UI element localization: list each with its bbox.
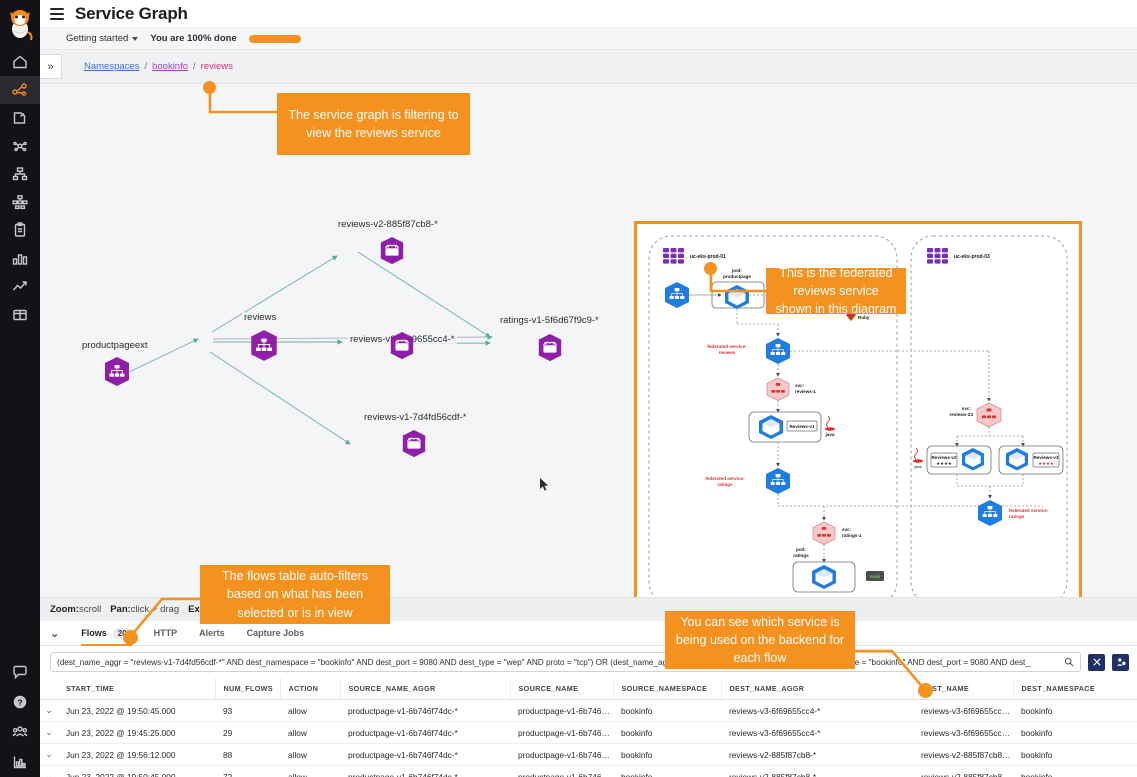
- cell-source-name-aggr: productpage-v1-6b746f74dc-*: [340, 722, 510, 744]
- getting-started-dropdown[interactable]: Getting started: [66, 33, 138, 44]
- breadcrumb-item-namespaces[interactable]: Namespaces: [84, 61, 139, 72]
- graph-node-label: ratings-v1-5f6d67f9c9-*: [498, 315, 601, 326]
- cell-action: allow: [280, 700, 340, 722]
- service-graph-page: ? Service Graph Getting started You are …: [0, 0, 1137, 777]
- magnifier-icon[interactable]: [1064, 657, 1074, 667]
- callout-anchor-dot-backend-service: [918, 683, 933, 698]
- progress-bar: [249, 35, 301, 43]
- pod-cube-productpage: [725, 285, 749, 309]
- cluster-icon-right: [927, 248, 948, 264]
- pod-hex-icon: [388, 331, 416, 361]
- pod-cube-ratings: [812, 565, 836, 589]
- breadcrumb-item-bookinfo[interactable]: bookinfo: [152, 61, 188, 72]
- sidebar-item-service-graph[interactable]: [0, 76, 40, 104]
- sidebar-item-home[interactable]: [0, 48, 40, 76]
- svc-icon-1: [665, 282, 689, 308]
- svg-text:node: node: [870, 574, 881, 579]
- col-source-name[interactable]: SOURCE_NAME: [510, 678, 613, 700]
- left-nav-rail: ?: [0, 0, 40, 777]
- mouse-cursor-icon: [540, 478, 550, 492]
- sidebar-item-archive[interactable]: [0, 300, 40, 328]
- graph-node-reviews-v1[interactable]: reviews-v1-7d4fd56cdf-*: [400, 429, 428, 464]
- table-row[interactable]: ⌄Jun 23, 2022 @ 19:56:12.00088allowprodu…: [40, 744, 1137, 766]
- cell-action: allow: [280, 722, 340, 744]
- federated-service-ratings-icon-right: [978, 500, 1002, 526]
- svg-text:★★★★: ★★★★: [1038, 461, 1054, 466]
- col-source-namespace[interactable]: SOURCE_NAMESPACE: [613, 678, 721, 700]
- cell-action: allow: [280, 766, 340, 777]
- reviews-v2-box-label: Reviews-v2: [931, 455, 956, 460]
- filter-row: (dest_name_aggr = "reviews-v1-7d4fd56cdf…: [40, 646, 1137, 678]
- pod-hex-icon: [400, 429, 428, 459]
- svg-text:svc:: svc:: [795, 383, 805, 388]
- chevron-double-down-icon[interactable]: ⌄: [50, 627, 59, 640]
- svg-text:productpage: productpage: [723, 274, 751, 279]
- search-query-text: (dest_name_aggr = "reviews-v1-7d4fd56cdf…: [57, 658, 1060, 667]
- table-row[interactable]: ⌄Jun 23, 2022 @ 19:50:45.00093allowprodu…: [40, 700, 1137, 722]
- sidebar-item-compliance[interactable]: [0, 216, 40, 244]
- cell-dest-name-aggr: reviews-v2-885f87cb8-*: [721, 766, 913, 777]
- users-icon[interactable]: [0, 717, 40, 747]
- col-dest-name-aggr[interactable]: DEST_NAME_AGGR: [721, 678, 913, 700]
- svg-text:federated service:: federated service:: [1009, 508, 1049, 513]
- cell-source-name-aggr: productpage-v1-6b746f74dc-*: [340, 700, 510, 722]
- cell-num-flows: 29: [215, 722, 280, 744]
- svc-reviews-23-icon: [977, 403, 1001, 427]
- cell-dest-namespace: bookinfo: [1013, 744, 1137, 766]
- breadcrumb-item-reviews: reviews: [201, 61, 233, 72]
- svg-text:ratings: ratings: [793, 553, 809, 558]
- sidebar-item-network-sets[interactable]: [0, 132, 40, 160]
- col-source-name-aggr[interactable]: SOURCE_NAME_AGGR: [340, 678, 510, 700]
- callout-anchor-dot-graph-filter: [203, 81, 216, 94]
- sidebar-item-endpoints[interactable]: [0, 188, 40, 216]
- page-title: Service Graph: [75, 4, 188, 24]
- pod-cube-reviews-v3: [1006, 448, 1028, 471]
- federated-service-reviews-icon: [766, 338, 790, 364]
- table-header-row: START_TIME NUM_FLOWS ACTION SOURCE_NAME_…: [40, 678, 1137, 700]
- clear-filter-button[interactable]: [1088, 654, 1105, 671]
- save-filter-button[interactable]: [1112, 654, 1129, 671]
- tab-capture-jobs[interactable]: Capture Jobs: [247, 621, 305, 646]
- cell-start-time: Jun 23, 2022 @ 19:50:45.000: [58, 766, 215, 777]
- graph-node-productpageext[interactable]: productpageext: [102, 356, 132, 393]
- table-row[interactable]: ⌄Jun 23, 2022 @ 19:45:25.00029allowprodu…: [40, 722, 1137, 744]
- getting-started-bar: Getting started You are 100% done: [40, 28, 1137, 50]
- cell-source-name: productpage-v1-6b746…: [510, 766, 613, 777]
- tab-http[interactable]: HTTP: [154, 621, 178, 646]
- graph-node-reviews[interactable]: reviews: [248, 329, 280, 368]
- svg-text:pod:: pod:: [732, 268, 742, 273]
- bottom-tab-bar: ⌄ Flows 20 HTTP Alerts Capture Jobs: [40, 621, 1137, 646]
- node-logo-icon: node: [866, 571, 884, 581]
- svg-text:java: java: [825, 432, 835, 437]
- support-chat-icon[interactable]: [0, 657, 40, 687]
- cell-source-namespace: bookinfo: [613, 766, 721, 777]
- cell-source-namespace: bookinfo: [613, 722, 721, 744]
- app-header: Service Graph: [40, 0, 1137, 28]
- graph-node-reviews-v2[interactable]: reviews-v2-885f87cb8-*: [378, 236, 406, 271]
- chevron-down-icon[interactable]: ⌄: [40, 722, 58, 744]
- tab-label: Capture Jobs: [247, 628, 305, 638]
- federated-service-ratings-icon-left: [766, 468, 790, 494]
- breadcrumb-bar: » Namespaces / bookinfo / reviews: [40, 50, 1137, 84]
- callout-graph-filter: The service graph is filtering to view t…: [277, 93, 470, 155]
- sidebar-item-timeline[interactable]: [0, 272, 40, 300]
- rail-bottom-group: ?: [0, 657, 40, 777]
- col-action[interactable]: ACTION: [280, 678, 340, 700]
- cell-dest-namespace: bookinfo: [1013, 700, 1137, 722]
- svg-text:ratings-1: ratings-1: [842, 533, 862, 538]
- hamburger-icon[interactable]: [50, 8, 64, 20]
- svg-text:?: ?: [17, 697, 22, 707]
- cell-dest-name: reviews-v3-6f69655cc…: [913, 700, 1013, 722]
- zoom-hint: Zoom:scroll: [50, 604, 101, 615]
- callout-federated-service: This is the federated reviews service sh…: [766, 268, 906, 314]
- cell-source-name-aggr: productpage-v1-6b746f74dc-*: [340, 744, 510, 766]
- progress-text: You are 100% done: [150, 33, 236, 44]
- cluster-label-left: uc-eks-prod-01: [690, 254, 726, 260]
- kibana-icon[interactable]: [0, 747, 40, 777]
- pod-cube-reviews-v2: [962, 448, 984, 471]
- breadcrumb-separator: /: [193, 61, 196, 72]
- cell-dest-namespace: bookinfo: [1013, 766, 1137, 777]
- tab-label: Alerts: [199, 628, 225, 638]
- cell-dest-name: reviews-v2-885f87cb8…: [913, 766, 1013, 777]
- svc-ratings-1-icon: [813, 522, 835, 545]
- cell-dest-name-aggr: reviews-v3-6f69655cc4-*: [721, 700, 913, 722]
- callout-anchor-dot-flows-autofilter: [123, 630, 138, 645]
- cell-dest-name-aggr: reviews-v3-6f69655cc4-*: [721, 722, 913, 744]
- cell-source-namespace: bookinfo: [613, 700, 721, 722]
- expander-col-header: [40, 678, 58, 700]
- pod-hex-icon: [536, 333, 564, 363]
- breadcrumb-separator: /: [144, 61, 147, 72]
- cluster-label-right: uc-eks-prod-03: [954, 254, 990, 260]
- breadcrumb: Namespaces / bookinfo / reviews: [84, 61, 233, 72]
- flows-table-element: START_TIME NUM_FLOWS ACTION SOURCE_NAME_…: [40, 678, 1137, 777]
- sidebar-item-dashboards[interactable]: [0, 244, 40, 272]
- cell-dest-name: reviews-v3-6f69655cc…: [913, 722, 1013, 744]
- svg-text:reviews: reviews: [719, 350, 736, 355]
- table-row[interactable]: ⌄Jun 23, 2022 @ 19:50:45.00072allowprodu…: [40, 766, 1137, 777]
- cell-start-time: Jun 23, 2022 @ 19:45:25.000: [58, 722, 215, 744]
- svc-reviews-1-icon: [767, 378, 789, 401]
- svg-text:federated service:: federated service:: [705, 476, 745, 481]
- search-input[interactable]: (dest_name_aggr = "reviews-v1-7d4fd56cdf…: [50, 652, 1081, 672]
- graph-node-ratings-v1[interactable]: ratings-v1-5f6d67f9c9-*: [536, 333, 564, 368]
- cell-source-name: productpage-v1-6b746…: [510, 700, 613, 722]
- sidebar-item-policies[interactable]: [0, 104, 40, 132]
- getting-started-label: Getting started: [66, 33, 128, 44]
- flows-table[interactable]: START_TIME NUM_FLOWS ACTION SOURCE_NAME_…: [40, 678, 1137, 777]
- cell-source-name: productpage-v1-6b746…: [510, 722, 613, 744]
- svg-text:ratings: ratings: [717, 482, 733, 487]
- callout-backend-service: You can see which service is being used …: [665, 611, 855, 669]
- callout-flows-autofilter: The flows table auto-filters based on wh…: [200, 565, 390, 624]
- save-filter-icon: [1116, 657, 1126, 667]
- svg-text:reviews-1: reviews-1: [795, 389, 816, 394]
- chevron-down-icon: [132, 37, 138, 41]
- cell-start-time: Jun 23, 2022 @ 19:56:12.000: [58, 744, 215, 766]
- svg-text:★★★★: ★★★★: [936, 461, 952, 466]
- chevron-double-right-icon[interactable]: »: [40, 54, 62, 79]
- cell-action: allow: [280, 744, 340, 766]
- svg-text:svc:: svc:: [962, 406, 972, 411]
- cell-dest-name: reviews-v2-885f87cb8…: [913, 744, 1013, 766]
- cell-start-time: Jun 23, 2022 @ 19:50:45.000: [58, 700, 215, 722]
- reviews-v1-box-label: Reviews-v1: [789, 424, 814, 429]
- col-num-flows[interactable]: NUM_FLOWS: [215, 678, 280, 700]
- graph-node-label: reviews: [242, 312, 278, 323]
- sidebar-item-nodes[interactable]: [0, 160, 40, 188]
- tab-label: HTTP: [154, 628, 178, 638]
- reviews-v3-box-label: Reviews-v3: [1033, 455, 1058, 460]
- cell-dest-namespace: bookinfo: [1013, 722, 1137, 744]
- cell-source-namespace: bookinfo: [613, 744, 721, 766]
- svg-text:federated service:: federated service:: [707, 344, 747, 349]
- graph-node-label: productpageext: [80, 340, 150, 351]
- chevron-down-icon[interactable]: ⌄: [40, 700, 58, 722]
- svg-text:svc:: svc:: [842, 527, 852, 532]
- cell-dest-name-aggr: reviews-v2-885f87cb8-*: [721, 744, 913, 766]
- graph-node-label: reviews-v2-885f87cb8-*: [336, 219, 440, 230]
- pan-hint: Pan:click + drag: [110, 604, 179, 615]
- svg-text:java: java: [914, 465, 923, 469]
- callout-anchor-dot-federated-service: [704, 262, 717, 275]
- tab-label: Flows: [81, 628, 107, 638]
- cell-source-name: productpage-v1-6b746…: [510, 744, 613, 766]
- cluster-icon-left: [663, 248, 684, 264]
- chevron-down-icon[interactable]: ⌄: [40, 744, 58, 766]
- cell-num-flows: 88: [215, 744, 280, 766]
- graph-node-label: reviews-v1-7d4fd56cdf-*: [362, 412, 468, 423]
- pod-cube-reviews-v1: [759, 415, 783, 439]
- service-hex-icon: [102, 356, 132, 388]
- col-start-time[interactable]: START_TIME: [58, 678, 215, 700]
- tab-alerts[interactable]: Alerts: [199, 621, 225, 646]
- cell-source-name-aggr: productpage-v1-6b746f74dc-*: [340, 766, 510, 777]
- java-logo-icon-right: java: [913, 448, 923, 469]
- close-icon: [1093, 658, 1101, 666]
- cell-num-flows: 93: [215, 700, 280, 722]
- svg-text:ratings: ratings: [1009, 514, 1025, 519]
- service-hex-icon: [248, 329, 280, 363]
- tigera-cat-logo-icon[interactable]: [0, 0, 40, 48]
- help-icon[interactable]: ?: [0, 687, 40, 717]
- svg-text:pod:: pod:: [796, 547, 806, 552]
- cell-num-flows: 72: [215, 766, 280, 777]
- service-graph-canvas[interactable]: productpageext reviews reviews-v2-885f87…: [40, 84, 1137, 597]
- flows-table-body: ⌄Jun 23, 2022 @ 19:50:45.00093allowprodu…: [40, 700, 1137, 777]
- col-dest-namespace[interactable]: DEST_NAMESPACE: [1013, 678, 1137, 700]
- chevron-down-icon[interactable]: ⌄: [40, 766, 58, 777]
- svg-text:reviews-23: reviews-23: [950, 412, 974, 417]
- flows-table-head: START_TIME NUM_FLOWS ACTION SOURCE_NAME_…: [40, 678, 1137, 700]
- java-logo-icon-left: java: [825, 416, 835, 437]
- pod-hex-icon: [378, 236, 406, 266]
